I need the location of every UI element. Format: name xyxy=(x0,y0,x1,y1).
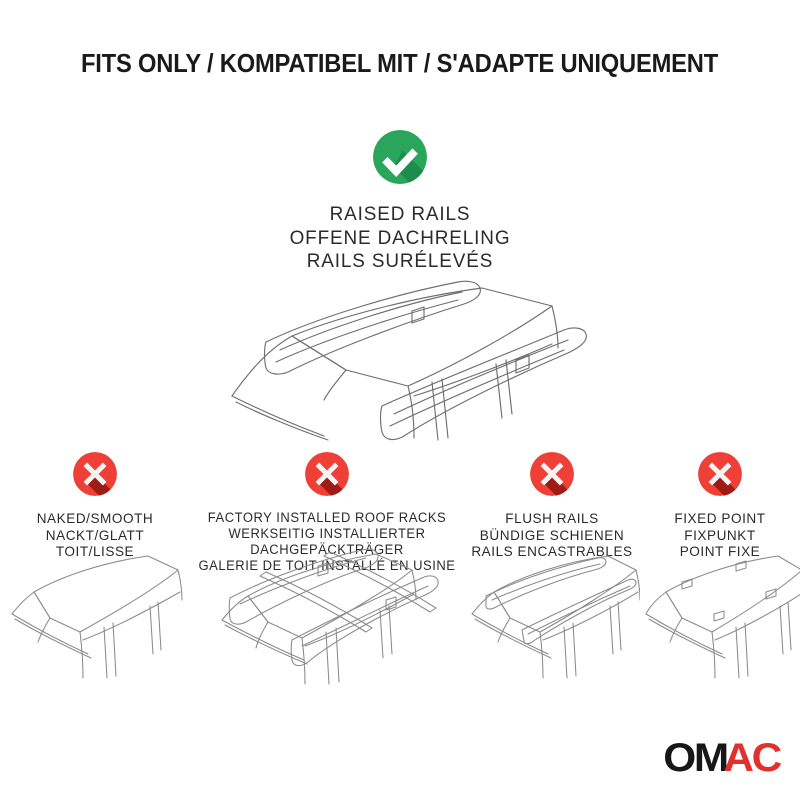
incompatible-item-factory-roof-rack: FACTORY INSTALLED ROOF RACKS WERKSEITIG … xyxy=(190,452,464,574)
car-roof-factory-roof-rack-illustration xyxy=(190,540,464,690)
incompatible-label-line: BÜNDIGE SCHIENEN xyxy=(467,527,638,544)
page-title: FITS ONLY / KOMPATIBEL MIT / S'ADAPTE UN… xyxy=(0,52,800,78)
incompatible-item-fixed-point: FIXED POINT FIXPUNKT POINT FIXE xyxy=(640,452,800,560)
omac-logo: OMAC xyxy=(665,738,778,778)
compatible-label-line: OFFENE DACHRELING xyxy=(12,227,788,251)
x-circle-icon xyxy=(698,452,742,496)
incompatible-label-line: FIXPUNKT xyxy=(642,527,797,544)
check-circle-icon xyxy=(373,130,427,184)
compatible-label-line: RAISED RAILS xyxy=(12,203,788,227)
compatible-labels: RAISED RAILS OFFENE DACHRELING RAILS SUR… xyxy=(0,203,800,274)
page-title-text: FITS ONLY / KOMPATIBEL MIT / S'ADAPTE UN… xyxy=(81,52,718,78)
incompatible-item-flush-rails: FLUSH RAILS BÜNDIGE SCHIENEN RAILS ENCAS… xyxy=(464,452,640,560)
incompatible-label-line: FIXED POINT xyxy=(642,510,797,527)
omac-logo-red-part: AC xyxy=(723,738,780,778)
compatible-label-line: RAILS SURÉLEVÉS xyxy=(12,250,788,274)
incompatible-label-line: NACKT/GLATT xyxy=(3,527,187,544)
incompatible-label-line: FLUSH RAILS xyxy=(467,510,638,527)
car-roof-flush-rails-illustration xyxy=(464,548,640,688)
incompatible-item-naked-smooth: NAKED/SMOOTH NACKT/GLATT TOIT/LISSE xyxy=(0,452,190,560)
car-roof-with-raised-rails-illustration xyxy=(196,278,616,458)
incompatible-label-line: FACTORY INSTALLED ROOF RACKS xyxy=(194,510,460,526)
car-roof-naked-smooth-illustration xyxy=(0,548,190,688)
omac-logo-dark-part: OM xyxy=(663,738,727,778)
car-roof-fixed-point-illustration xyxy=(640,548,800,688)
x-circle-icon xyxy=(530,452,574,496)
x-circle-icon xyxy=(73,452,117,496)
compatible-section: RAISED RAILS OFFENE DACHRELING RAILS SUR… xyxy=(0,130,800,274)
incompatible-label-line: NAKED/SMOOTH xyxy=(3,510,187,527)
x-circle-icon xyxy=(305,452,349,496)
